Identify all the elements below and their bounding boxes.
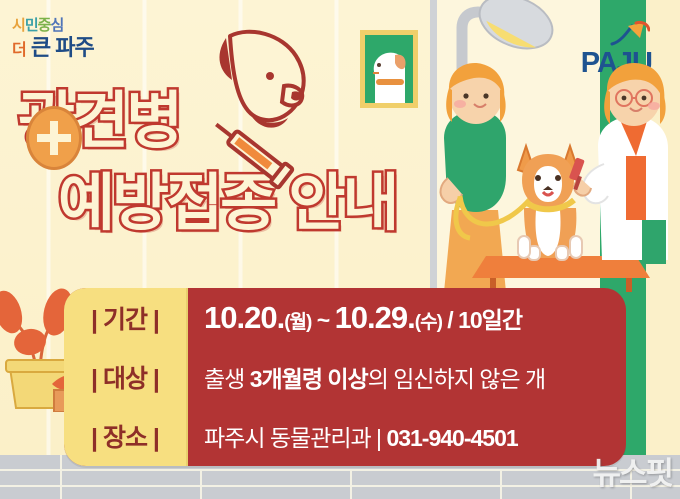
- period-start-day: (월): [284, 312, 311, 333]
- ci-name-main: 큰 파주: [31, 35, 94, 60]
- rabies-vaccination-poster: 시민중심 더 큰 파주 PAJU 광견병: [0, 0, 680, 499]
- info-rows: | 기간 | 10.20.(월) ~ 10.29.(수) / 10일간 | 대상…: [64, 288, 626, 466]
- period-start-date: 10.20.: [204, 300, 284, 335]
- vaccination-scene-illustration: [430, 60, 680, 292]
- ci-tagline: 시민중심: [12, 18, 130, 34]
- place-phone: 031-940-4501: [386, 425, 517, 451]
- period-end-date: 10.29.: [335, 300, 415, 335]
- info-panel: | 기간 | 10.20.(월) ~ 10.29.(수) / 10일간 | 대상…: [64, 288, 626, 466]
- running-figure-mark-icon: [606, 20, 650, 50]
- info-value-period: 10.20.(월) ~ 10.29.(수) / 10일간: [186, 300, 626, 336]
- info-row-target: | 대상 | 출생 3개월령 이상의 임신하지 않은 개: [64, 347, 626, 406]
- info-value-target: 출생 3개월령 이상의 임신하지 않은 개: [186, 360, 626, 394]
- info-label-target: | 대상 |: [64, 359, 186, 395]
- floor-grout-line: [200, 469, 202, 499]
- info-value-place: 파주시 동물관리과 | 031-940-4501: [186, 419, 626, 453]
- period-duration: / 10일간: [442, 307, 522, 333]
- shiba-inu-dog: [518, 146, 582, 260]
- medical-cross-icon: [26, 106, 82, 170]
- period-range-sep: ~: [311, 307, 334, 333]
- dog-head-line-art-icon: [196, 28, 326, 203]
- ci-name: 더 큰 파주: [12, 36, 130, 63]
- paju-city-ci-logo: 시민중심 더 큰 파주: [12, 18, 130, 70]
- info-label-place: | 장소 |: [64, 418, 186, 454]
- floor-grout-line: [350, 469, 352, 499]
- veterinarian-character: [569, 63, 668, 264]
- place-office: 파주시 동물관리과 |: [204, 425, 386, 451]
- target-prefix: 출생: [204, 366, 250, 392]
- floor-grout-line: [60, 455, 62, 499]
- target-age: 3개월령 이상: [250, 366, 368, 392]
- source-watermark: 뉴스핏: [592, 448, 672, 493]
- ci-name-prefix: 더: [12, 42, 26, 59]
- floor-grout-line: [0, 469, 680, 471]
- info-row-period: | 기간 | 10.20.(월) ~ 10.29.(수) / 10일간: [64, 288, 626, 347]
- floor-grout-line: [0, 485, 680, 487]
- target-suffix: 의 임신하지 않은 개: [368, 366, 545, 392]
- info-row-place: | 장소 | 파주시 동물관리과 | 031-940-4501: [64, 407, 626, 466]
- floor-grout-line: [500, 469, 502, 499]
- period-end-day: (수): [415, 312, 442, 333]
- info-label-period: | 기간 |: [64, 300, 186, 336]
